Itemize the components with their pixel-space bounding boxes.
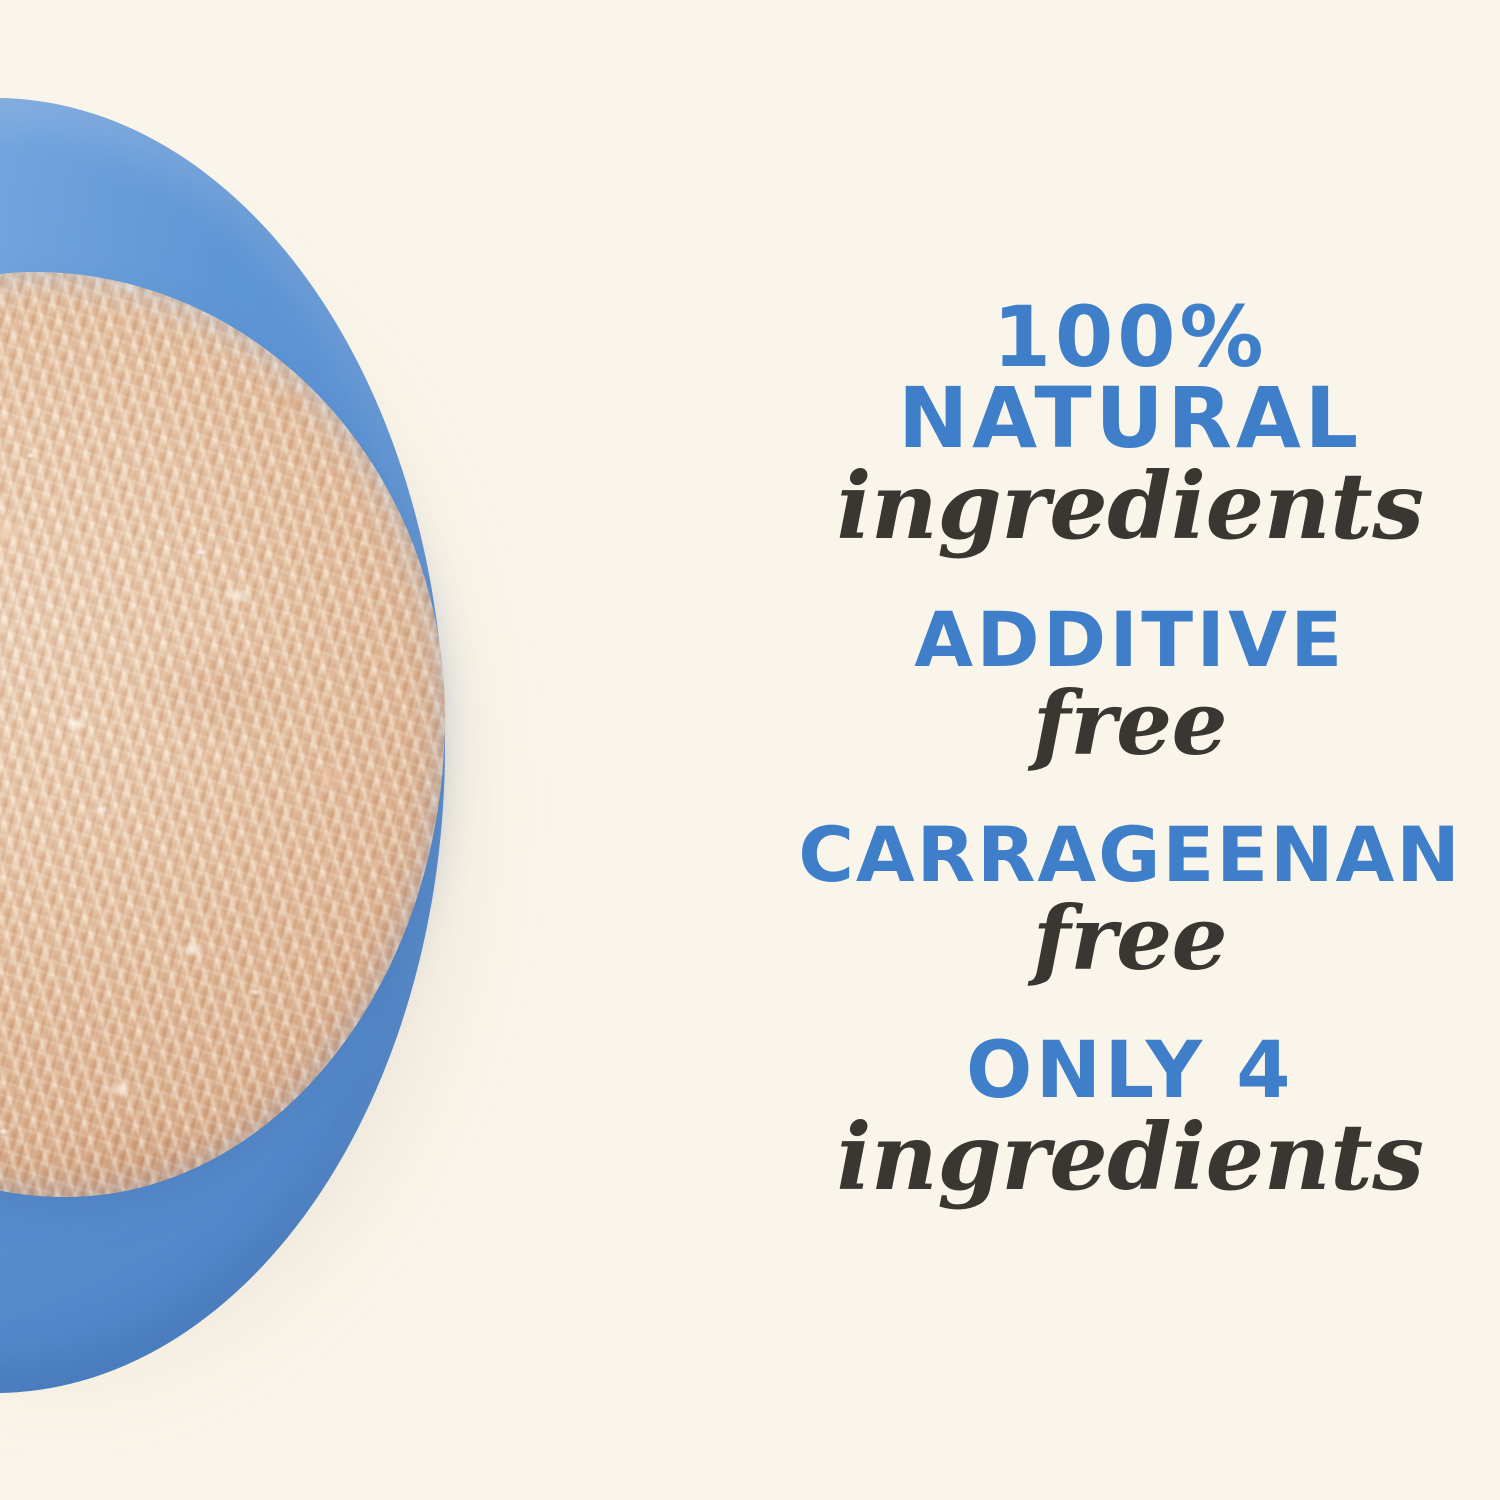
claim-subline: free [764, 679, 1496, 767]
claim-headline: CARRAGEENAN [764, 819, 1496, 892]
claim-headline: ADDITIVE [764, 604, 1496, 677]
claim-subline: ingredients [764, 460, 1496, 552]
claim-natural-ingredients: 100% NATURAL ingredients [764, 297, 1496, 552]
claim-headline: ONLY 4 [764, 1034, 1496, 1109]
claim-subline: ingredients [764, 1111, 1496, 1203]
claims-list: 100% NATURAL ingredients ADDITIVE free C… [760, 0, 1500, 1500]
claim-carrageenan-free: CARRAGEENAN free [764, 819, 1496, 982]
product-claims-graphic: 100% NATURAL ingredients ADDITIVE free C… [0, 0, 1500, 1500]
claim-headline: 100% NATURAL [764, 297, 1496, 458]
claim-subline: free [764, 894, 1496, 982]
product-photo [0, 0, 760, 1500]
claim-only-4-ingredients: ONLY 4 ingredients [764, 1034, 1496, 1203]
claim-additive-free: ADDITIVE free [764, 604, 1496, 767]
